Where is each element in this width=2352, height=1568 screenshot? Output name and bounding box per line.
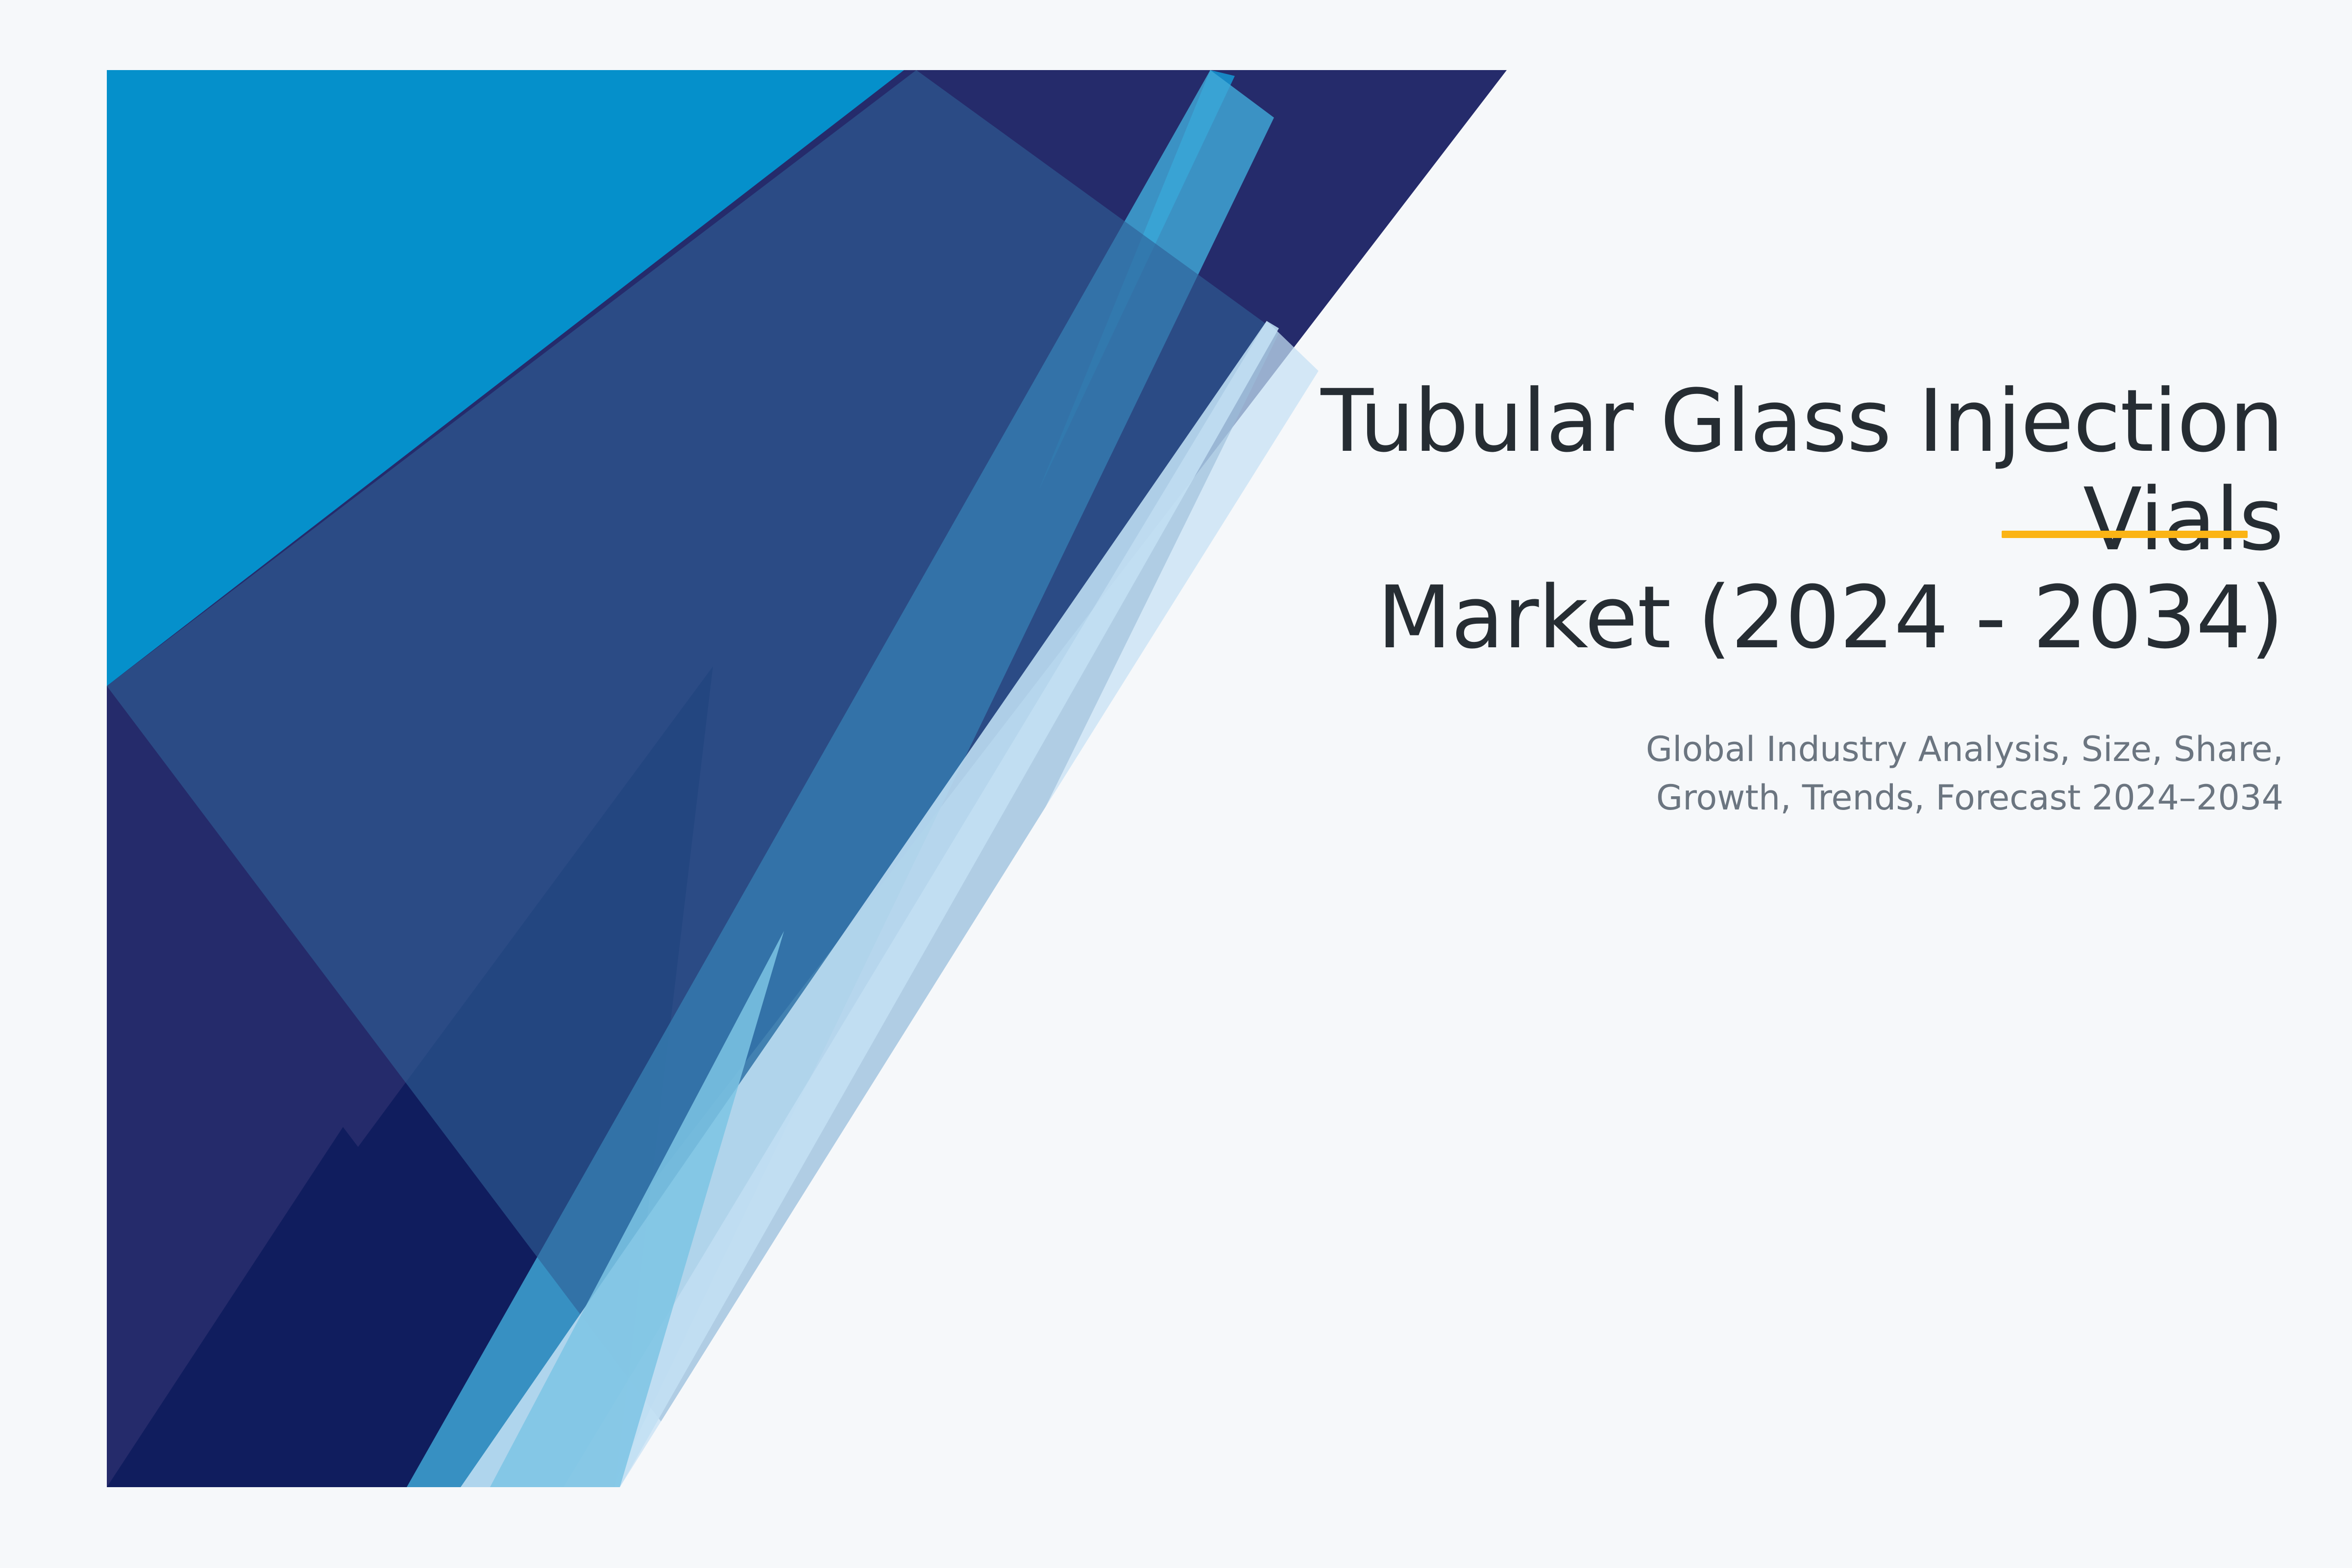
page-subtitle: Global Industry Analysis, Size, Share, G… xyxy=(1127,667,2283,823)
artwork-mask-left xyxy=(0,0,107,1568)
title-accent-underline xyxy=(2002,531,2248,538)
artwork-mask-top xyxy=(0,0,2352,70)
page-title: Tubular Glass Injection VialsMarket (202… xyxy=(1127,372,2283,667)
title-line-2: Market (2024 - 2034) xyxy=(1377,567,2283,668)
cover-text-block: Tubular Glass Injection VialsMarket (202… xyxy=(1127,372,2283,823)
cover-page: Tubular Glass Injection VialsMarket (202… xyxy=(0,0,2352,1568)
title-line-1: Tubular Glass Injection Vials xyxy=(1321,371,2283,570)
artwork-mask-bottom xyxy=(0,1487,2352,1568)
